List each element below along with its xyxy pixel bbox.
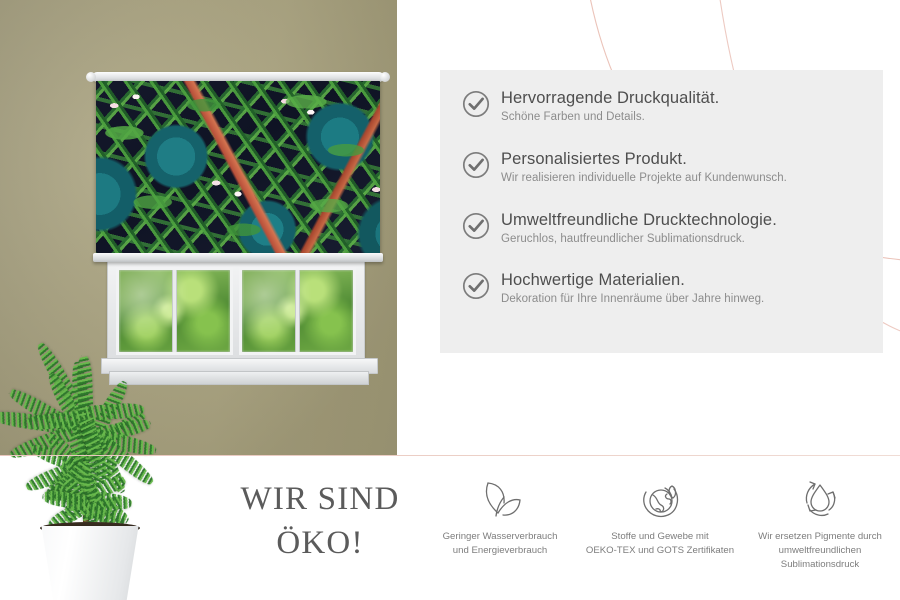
feature-title: Umweltfreundliche Drucktechnologie. <box>501 211 777 230</box>
check-circle-icon <box>462 151 490 179</box>
feature-title: Personalisiertes Produkt. <box>501 150 787 169</box>
feature-subtitle: Wir realisieren individuelle Projekte au… <box>501 172 787 186</box>
roller-blind <box>96 72 380 264</box>
eco-caption-line1: Geringer Wasserverbrauch <box>443 530 558 544</box>
eco-icon-wrap <box>474 470 526 524</box>
water-drop-recycle-icon <box>794 472 846 522</box>
plant-pot <box>36 526 144 600</box>
eco-headline-line1: WIR SIND <box>190 478 450 522</box>
eco-caption: Wir ersetzen Pigmente durch umweltfreund… <box>758 530 882 572</box>
check-circle-icon <box>462 272 490 300</box>
feature-title: Hervorragende Druckqualität. <box>501 89 719 108</box>
eco-items: Geringer Wasserverbrauch und Energieverb… <box>420 470 900 600</box>
feature-item: Hochwertige Materialien. Dekoration für … <box>462 270 882 307</box>
roller-blind-bottom-rail <box>93 253 383 262</box>
eco-caption-line2: OEKO-TEX und GOTS Zertifikaten <box>586 544 734 558</box>
tropical-leaf-overlay <box>96 81 380 254</box>
feature-subtitle: Dekoration für Ihre Innenräume über Jahr… <box>501 293 764 307</box>
window-mullion-right <box>296 270 299 352</box>
feature-subtitle: Geruchlos, hautfreundlicher Sublimations… <box>501 233 777 247</box>
features-list: Hervorragende Druckqualität. Schöne Farb… <box>462 88 882 331</box>
feature-title: Hochwertige Materialien. <box>501 271 764 290</box>
feature-subtitle: Schöne Farben und Details. <box>501 111 719 125</box>
promo-banner: Hervorragende Druckqualität. Schöne Farb… <box>0 0 900 600</box>
feature-item: Umweltfreundliche Drucktechnologie. Geru… <box>462 210 882 247</box>
feature-item: Hervorragende Druckqualität. Schöne Farb… <box>462 88 882 125</box>
feature-text: Hervorragende Druckqualität. Schöne Farb… <box>501 88 719 125</box>
roller-blind-fabric <box>96 81 380 254</box>
eco-headline: WIR SIND ÖKO! <box>190 478 450 565</box>
potted-plant <box>0 270 204 600</box>
feature-text: Umweltfreundliche Drucktechnologie. Geru… <box>501 210 777 247</box>
eco-item: Stoffe und Gewebe mit OEKO-TEX und GOTS … <box>580 470 740 600</box>
eco-item: Wir ersetzen Pigmente durch umweltfreund… <box>740 470 900 600</box>
eco-icon-wrap <box>634 470 686 524</box>
check-circle-icon <box>462 212 490 240</box>
eco-caption: Stoffe und Gewebe mit OEKO-TEX und GOTS … <box>586 530 734 558</box>
eco-caption-line2: und Energieverbrauch <box>443 544 558 558</box>
feature-item: Personalisiertes Produkt. Wir realisiere… <box>462 149 882 186</box>
window-sash-right <box>239 267 356 355</box>
roller-blind-cap-left <box>86 72 96 82</box>
eco-caption: Geringer Wasserverbrauch und Energieverb… <box>443 530 558 558</box>
eco-caption-line2: umweltfreundlichen <box>758 544 882 558</box>
eco-headline-line2: ÖKO! <box>190 522 450 566</box>
eco-caption-line3: Sublimationsdruck <box>758 558 882 572</box>
feature-text: Hochwertige Materialien. Dekoration für … <box>501 270 764 307</box>
eco-caption-line1: Stoffe und Gewebe mit <box>586 530 734 544</box>
eco-item: Geringer Wasserverbrauch und Energieverb… <box>420 470 580 600</box>
two-leaves-icon <box>474 472 526 522</box>
eco-icon-wrap <box>794 470 846 524</box>
section-divider <box>0 455 900 456</box>
check-circle-icon <box>462 90 490 118</box>
globe-leaf-icon <box>634 472 686 522</box>
feature-text: Personalisiertes Produkt. Wir realisiere… <box>501 149 787 186</box>
roller-blind-cap-right <box>380 72 390 82</box>
eco-caption-line1: Wir ersetzen Pigmente durch <box>758 530 882 544</box>
